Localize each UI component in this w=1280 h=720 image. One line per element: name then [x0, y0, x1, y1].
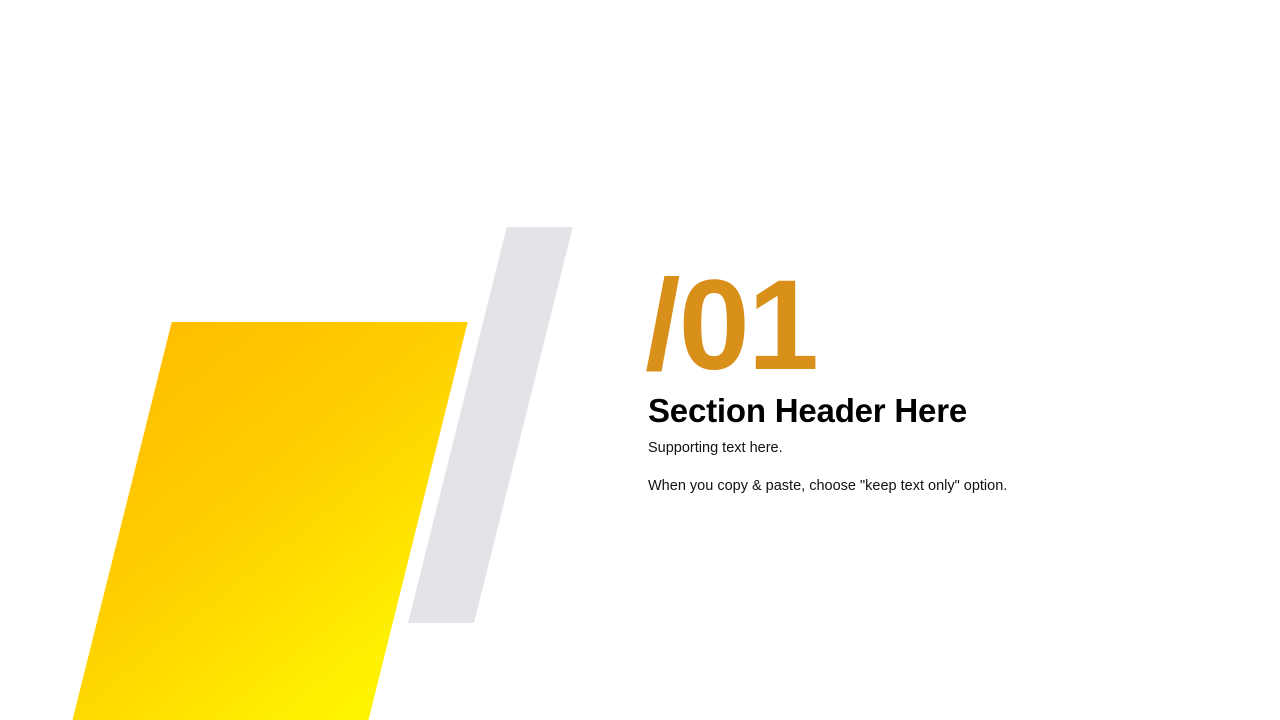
section-text-block: /01 Section Header Here Supporting text … — [648, 266, 1208, 496]
yellow-gradient-parallelogram — [72, 322, 468, 720]
section-note: When you copy & paste, choose "keep text… — [648, 477, 1208, 497]
section-number: /01 — [645, 266, 1208, 386]
section-subtitle: Supporting text here. — [648, 439, 1208, 459]
gray-parallelogram — [408, 227, 573, 623]
page-title: Section Header Here — [648, 392, 1208, 431]
slide-canvas: /01 Section Header Here Supporting text … — [0, 0, 1280, 720]
